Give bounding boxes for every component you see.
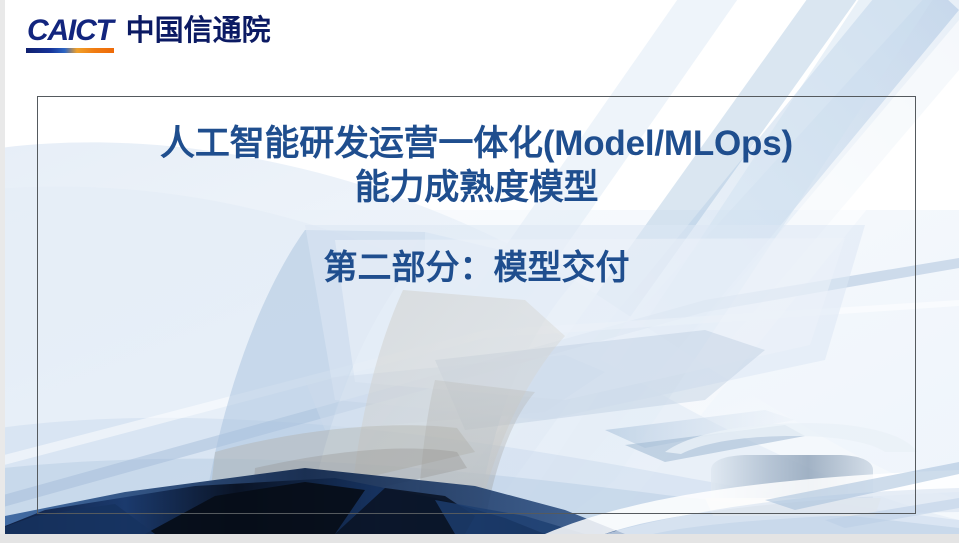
- page-bottom-margin: [0, 534, 959, 543]
- page-left-margin: [0, 0, 5, 543]
- slide-canvas: 人工智能研发运营一体化(Model/MLOps) 能力成熟度模型 第二部分：模型…: [5, 0, 959, 534]
- caict-logo: CAICT 中国信通院: [27, 16, 271, 46]
- presentation-slide: 人工智能研发运营一体化(Model/MLOps) 能力成熟度模型 第二部分：模型…: [0, 0, 959, 543]
- content-frame: [37, 96, 916, 514]
- logo-underline: [26, 48, 114, 53]
- logo-latin-text: CAICT: [27, 14, 113, 47]
- logo-chinese-text: 中国信通院: [126, 16, 271, 46]
- logo-mark: CAICT: [27, 16, 113, 46]
